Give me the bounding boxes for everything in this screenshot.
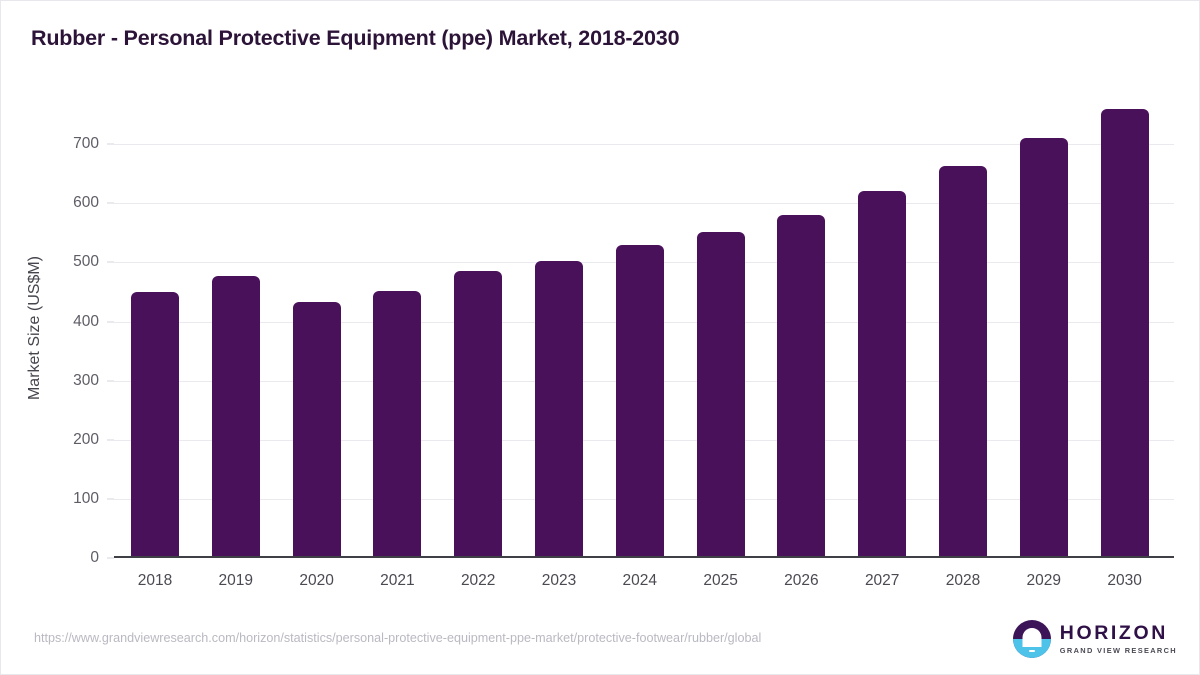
- logo-mark-ray-3: [1029, 650, 1035, 652]
- bar-2027[interactable]: [858, 191, 906, 558]
- horizon-sun-circle-icon: [1013, 620, 1051, 658]
- x-axis-tick-label: 2025: [681, 572, 761, 590]
- gridline: [114, 203, 1174, 204]
- page-title: Rubber - Personal Protective Equipment (…: [31, 26, 679, 51]
- y-axis-tick-label: 600: [73, 194, 99, 212]
- y-axis-tick-label: 700: [73, 135, 99, 153]
- y-axis-title: Market Size (US$M): [23, 97, 47, 558]
- bar-2021[interactable]: [373, 291, 421, 558]
- logo-mark-ray-1: [1024, 641, 1040, 643]
- bar-2019[interactable]: [212, 276, 260, 559]
- y-axis-tick-label: 500: [73, 253, 99, 271]
- y-axis-tick-mark: [107, 321, 114, 322]
- logo: HORIZON GRAND VIEW RESEARCH: [1013, 620, 1177, 658]
- x-axis-tick-label: 2019: [196, 572, 276, 590]
- bar-2026[interactable]: [777, 215, 825, 558]
- x-axis-tick-label: 2021: [357, 572, 437, 590]
- y-axis-tick-mark: [107, 498, 114, 499]
- gridline: [114, 144, 1174, 145]
- logo-mark-ray-2: [1026, 645, 1037, 647]
- logo-tagline: GRAND VIEW RESEARCH: [1060, 647, 1177, 654]
- x-axis-tick-label: 2018: [115, 572, 195, 590]
- x-axis-tick-label: 2020: [277, 572, 357, 590]
- y-axis-tick-label: 200: [73, 431, 99, 449]
- bar-2022[interactable]: [454, 271, 502, 558]
- y-axis-tick-mark: [107, 262, 114, 263]
- bar-2024[interactable]: [616, 245, 664, 558]
- y-axis-tick-mark: [107, 203, 114, 204]
- bar-2028[interactable]: [939, 166, 987, 558]
- chart-page: Rubber - Personal Protective Equipment (…: [0, 0, 1200, 675]
- logo-text: HORIZON GRAND VIEW RESEARCH: [1060, 624, 1177, 654]
- x-axis-tick-label: 2024: [600, 572, 680, 590]
- bar-2029[interactable]: [1020, 138, 1068, 558]
- bar-2030[interactable]: [1101, 109, 1149, 558]
- bar-2018[interactable]: [131, 292, 179, 558]
- y-axis-tick-label: 300: [73, 372, 99, 390]
- x-axis-tick-label: 2030: [1085, 572, 1165, 590]
- plot-area: 0100200300400500600700 20182019202020212…: [114, 97, 1174, 558]
- y-axis-tick-label: 100: [73, 490, 99, 508]
- y-axis-title-label: Market Size (US$M): [26, 255, 44, 399]
- bar-2023[interactable]: [535, 261, 583, 558]
- logo-mark-dome: [1022, 628, 1041, 647]
- x-axis-tick-label: 2026: [761, 572, 841, 590]
- x-axis-tick-label: 2023: [519, 572, 599, 590]
- y-axis-tick-label: 400: [73, 313, 99, 331]
- bar-2025[interactable]: [697, 232, 745, 558]
- x-axis-tick-label: 2022: [438, 572, 518, 590]
- y-axis-tick-mark: [107, 558, 114, 559]
- source-url[interactable]: https://www.grandviewresearch.com/horizo…: [34, 630, 934, 647]
- y-axis-tick-mark: [107, 144, 114, 145]
- bar-2020[interactable]: [293, 302, 341, 559]
- y-axis-tick-label: 0: [90, 549, 99, 567]
- x-axis-tick-label: 2027: [842, 572, 922, 590]
- x-axis-line: [114, 556, 1174, 558]
- y-axis-tick-mark: [107, 439, 114, 440]
- x-axis-tick-label: 2029: [1004, 572, 1084, 590]
- y-axis-tick-mark: [107, 380, 114, 381]
- x-axis-tick-label: 2028: [923, 572, 1003, 590]
- logo-wordmark: HORIZON: [1060, 624, 1177, 644]
